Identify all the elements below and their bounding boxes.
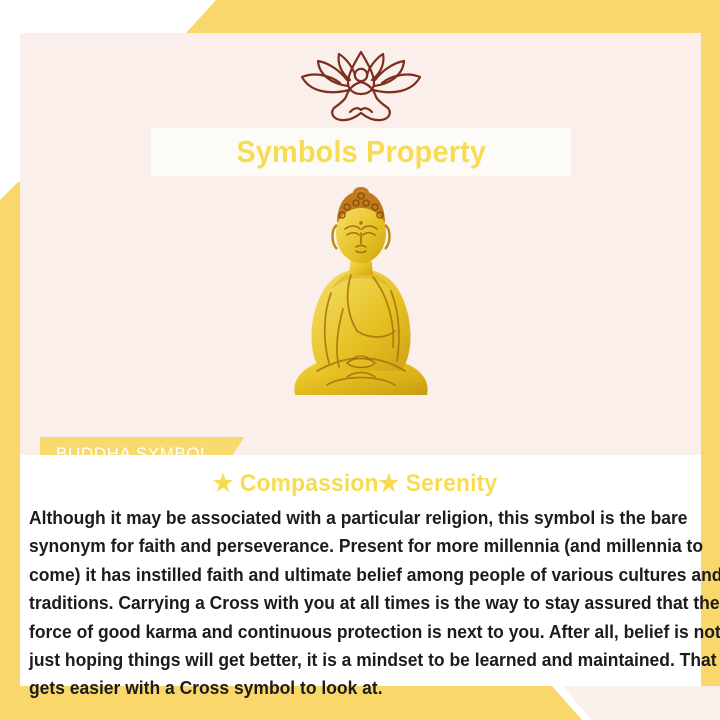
seated-buddha-illustration-icon: [261, 181, 461, 406]
buddha-illustration-wrap: [20, 181, 701, 406]
content-panel: ★ Compassion★ Serenity Although it may b…: [20, 455, 701, 686]
content-subtitle: ★ Compassion★ Serenity: [45, 469, 664, 498]
title-banner: Symbols Property: [151, 128, 571, 176]
lotus-meditation-icon: [286, 50, 436, 122]
poster-root: BUDDHA STONES Symbols Property: [0, 0, 720, 720]
decoration-top-band: [0, 0, 720, 33]
page-title: Symbols Property: [236, 134, 486, 170]
decoration-left-strip: [0, 182, 20, 720]
content-paragraph: Although it may be associated with a par…: [29, 504, 720, 703]
hero-panel: BUDDHA STONES Symbols Property: [20, 33, 701, 455]
